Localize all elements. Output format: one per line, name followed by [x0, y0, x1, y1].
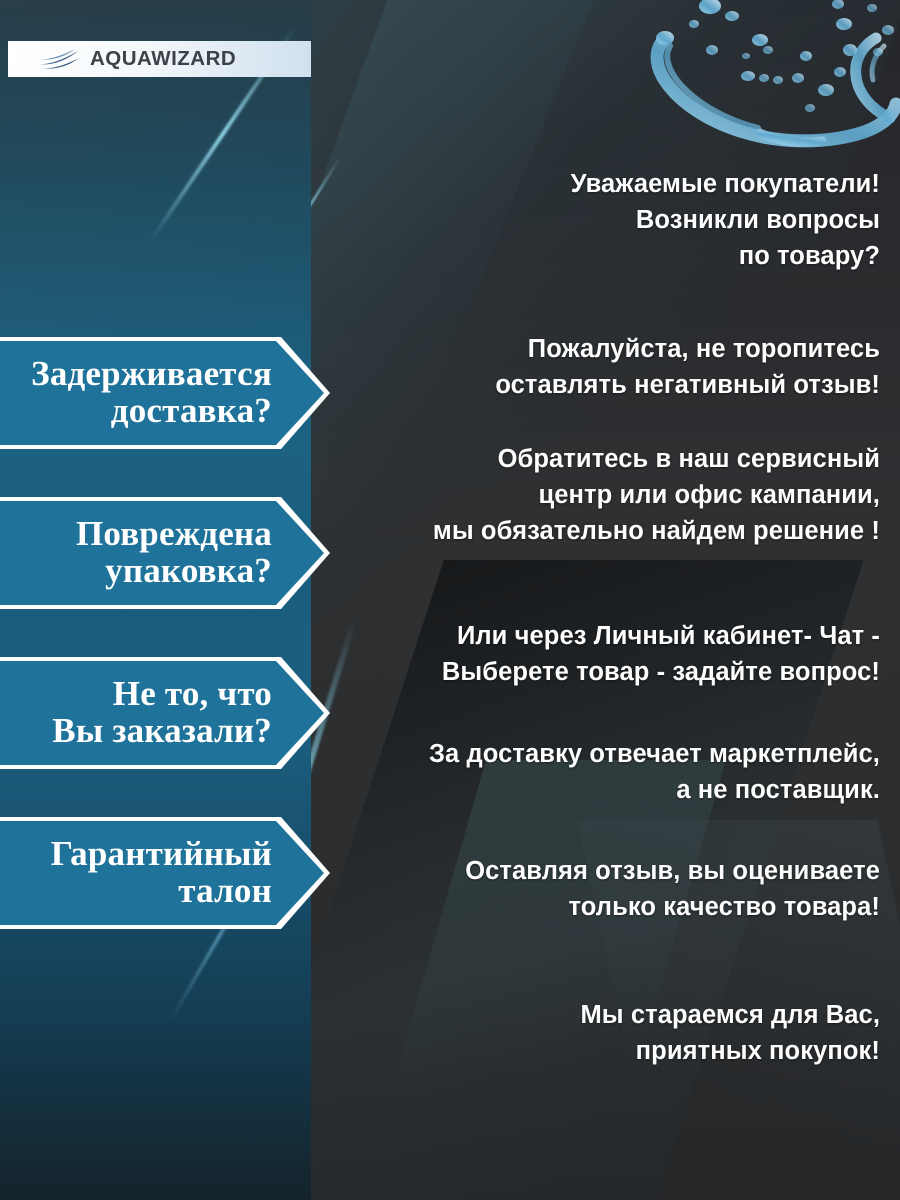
brand-name: AQUAWIZARD	[90, 47, 236, 71]
banner-body: Не то, что Вы заказали?	[0, 661, 324, 765]
paragraph-personal-account-chat: Или через Личный кабинет- Чат - Выберете…	[320, 618, 880, 690]
banner-label: Повреждена упаковка?	[76, 515, 272, 589]
banner-body: Повреждена упаковка?	[0, 501, 324, 605]
paragraph-closing: Мы стараемся для Вас, приятных покупок!	[320, 997, 880, 1069]
message-column: Уважаемые покупатели! Возникли вопросы п…	[322, 0, 900, 1200]
wave-logo-icon	[37, 48, 81, 70]
paragraph-no-rush-review: Пожалуйста, не торопитесь оставлять нега…	[320, 331, 880, 403]
poster-canvas: AQUAWIZARD Задерживается доставка? Повре…	[0, 0, 900, 1200]
paragraph-greeting: Уважаемые покупатели! Возникли вопросы п…	[320, 166, 880, 275]
paragraph-marketplace-responsibility: За доставку отвечает маркетплейс, а не п…	[320, 736, 880, 808]
brand-logo-bar: AQUAWIZARD	[8, 41, 311, 77]
paragraph-review-quality: Оставляя отзыв, вы оцениваете только кач…	[320, 853, 880, 925]
banner-label: Гарантийный талон	[51, 835, 272, 909]
banner-label: Задерживается доставка?	[31, 355, 272, 429]
banner-label: Не то, что Вы заказали?	[52, 675, 272, 749]
banner-body: Задерживается доставка?	[0, 341, 324, 445]
banner-body: Гарантийный талон	[0, 821, 324, 925]
paragraph-contact-service: Обратитесь в наш сервисный центр или офи…	[320, 441, 880, 550]
